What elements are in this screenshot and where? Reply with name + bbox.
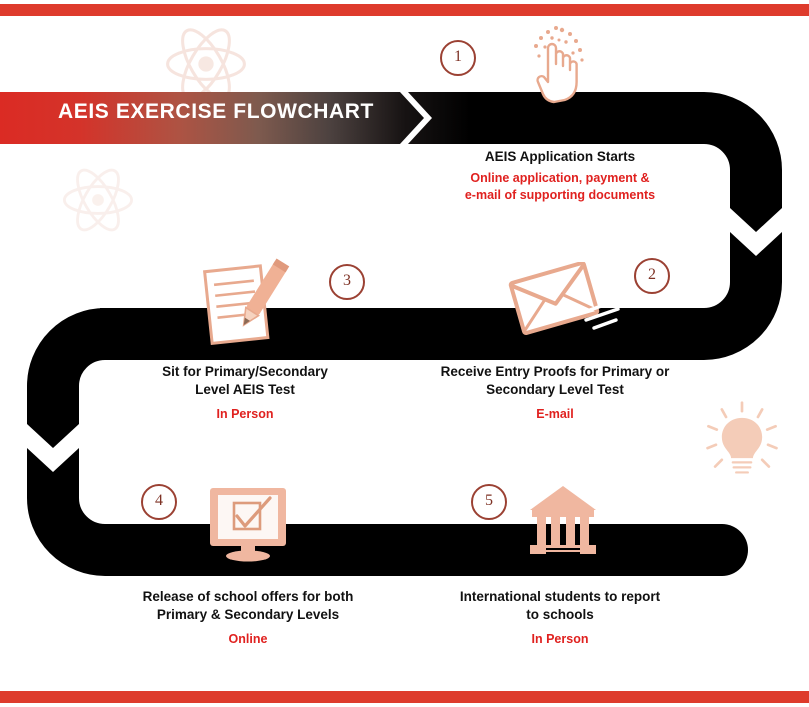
step-caption: Sit for Primary/Secondary Level AEIS Tes…	[120, 363, 370, 422]
monitor-check-icon	[206, 486, 290, 562]
step-mode: In Person	[120, 406, 370, 422]
step-number-badge: 3	[329, 264, 365, 300]
step-caption: AEIS Application Starts Online applicati…	[420, 148, 700, 204]
page-title: AEIS EXERCISE FLOWCHART	[58, 100, 374, 124]
step-title: Sit for Primary/Secondary Level AEIS Tes…	[120, 363, 370, 399]
step-caption: Release of school offers for both Primar…	[120, 588, 376, 647]
envelope-icon	[506, 262, 632, 342]
step-mode: Online	[120, 631, 376, 647]
click-hand-icon	[518, 26, 592, 106]
step-number-badge: 2	[634, 258, 670, 294]
step-caption: International students to report to scho…	[430, 588, 690, 647]
step-mode: E-mail	[413, 406, 697, 422]
step-number-badge: 5	[471, 484, 507, 520]
banner-chevron-icon	[396, 92, 432, 144]
paper-pencil-icon	[200, 256, 292, 348]
flowchart-canvas: AEIS EXERCISE FLOWCHART 1 AEIS Applicati…	[0, 0, 809, 707]
step-caption: Receive Entry Proofs for Primary or Seco…	[413, 363, 697, 422]
step-title: Receive Entry Proofs for Primary or Seco…	[413, 363, 697, 399]
step-title: Release of school offers for both Primar…	[120, 588, 376, 624]
school-building-icon	[526, 484, 600, 560]
step-title: AEIS Application Starts	[420, 148, 700, 166]
step-title: International students to report to scho…	[430, 588, 690, 624]
step-number-badge: 1	[440, 40, 476, 76]
step-subtitle: Online application, payment & e-mail of …	[420, 170, 700, 204]
step-mode: In Person	[430, 631, 690, 647]
step-number-badge: 4	[141, 484, 177, 520]
